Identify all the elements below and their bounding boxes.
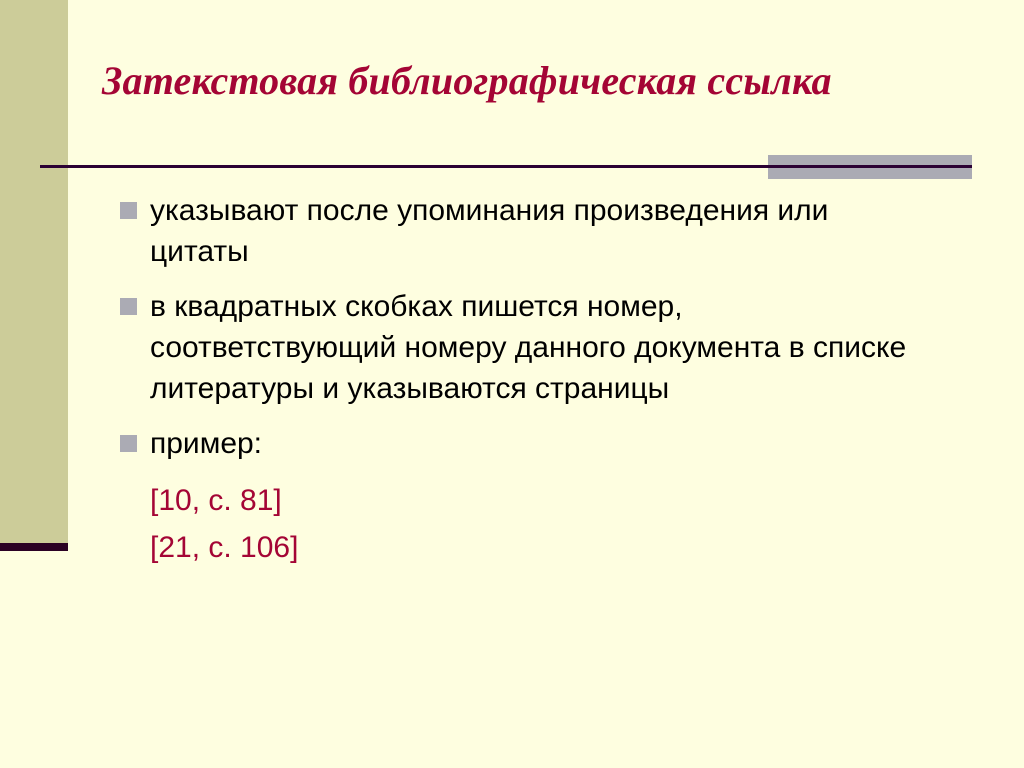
- slide-body: указывают после упоминания произведения …: [112, 190, 912, 572]
- list-item-label: пример:: [150, 423, 912, 464]
- sidebar-decoration-strip: [0, 0, 68, 543]
- square-bullet-icon: [120, 298, 137, 315]
- list-item: пример:: [112, 423, 912, 464]
- list-item: указывают после упоминания произведения …: [112, 190, 912, 272]
- sidebar-decoration-footer-bar: [0, 543, 68, 551]
- square-bullet-icon: [120, 202, 137, 219]
- list-item-label: указывают после упоминания произведения …: [150, 190, 912, 272]
- presentation-slide: Затекстовая библиографическая ссылка ука…: [0, 0, 1024, 768]
- square-bullet-icon: [120, 435, 137, 452]
- example-citation-second: [21, с. 106]: [112, 525, 912, 570]
- list-item: в квадратных скобках пишется номер, соот…: [112, 286, 912, 409]
- page-title: Затекстовая библиографическая ссылка: [68, 52, 998, 110]
- example-citation-first: [10, с. 81]: [112, 478, 912, 523]
- title-divider: [0, 150, 1024, 186]
- list-item-label: в квадратных скобках пишется номер, соот…: [150, 286, 912, 409]
- title-area: Затекстовая библиографическая ссылка: [68, 52, 998, 148]
- divider-rule-line: [40, 165, 972, 168]
